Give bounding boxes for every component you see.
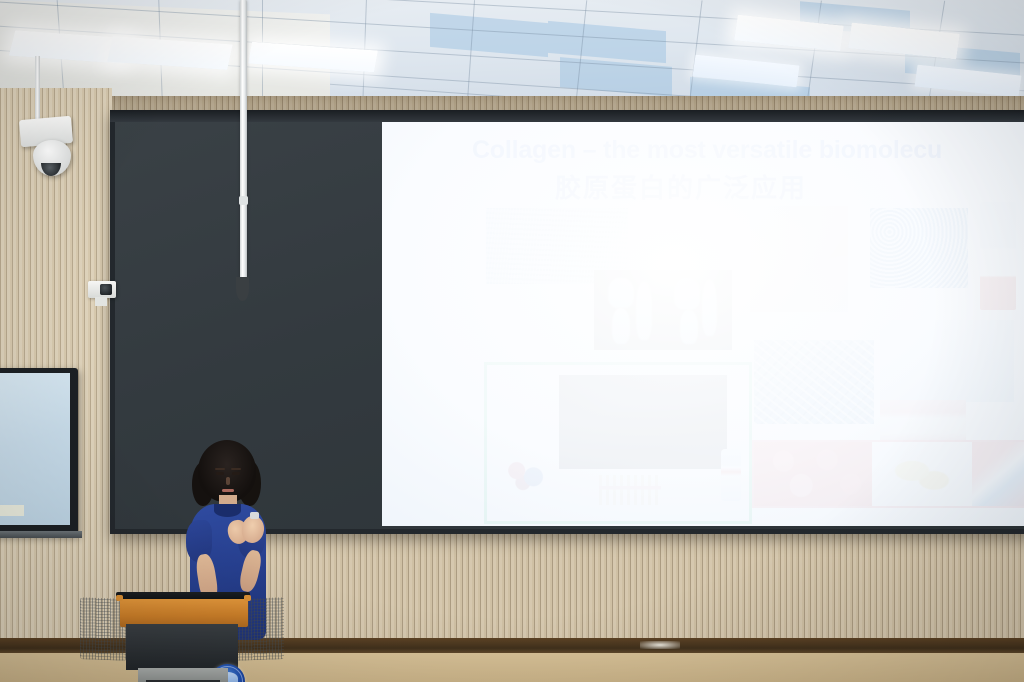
slide-title-chinese: 胶原蛋白的广泛应用: [382, 168, 980, 205]
dress-collar: [214, 504, 241, 517]
food-application-group-box: [752, 440, 1024, 508]
pole-hook-icon: [236, 277, 249, 301]
collagen-sponge-image: [754, 340, 874, 424]
side-flat-panel-display[interactable]: [0, 368, 78, 536]
lectern-wood-rail: [120, 599, 248, 627]
pole-joint: [239, 196, 248, 205]
cosmetic-model-image: [750, 206, 848, 312]
screen-pull-down-pole[interactable]: [240, 0, 247, 282]
lectern-knob-left[interactable]: [116, 595, 123, 601]
blackboard-top-rail: [110, 110, 1024, 122]
lectern-knob-right[interactable]: [244, 595, 251, 601]
presenter-hair: [198, 440, 256, 502]
eyebrow-right: [231, 468, 241, 470]
confectionery-image: [972, 442, 1024, 506]
side-display-shelf: [0, 531, 82, 538]
lecture-hall-scene: Collagen – the most versatile biomolecu …: [0, 0, 1024, 682]
eye-left: [216, 472, 224, 475]
medicine-vial-image: [980, 202, 1016, 310]
nose: [226, 477, 230, 485]
slide-title-english: Collagen – the most versatile biomolecu: [382, 136, 1024, 165]
match-sticks-image: [599, 475, 661, 505]
leather-and-adhesive-group-box: [484, 362, 752, 524]
ceiling-tile: [430, 13, 548, 57]
medical-device-box-image: [880, 320, 1014, 402]
adhesive-tape-rolls-image: [495, 449, 557, 497]
side-display-screen: [0, 373, 70, 525]
red-jelly-candy-image: [754, 442, 872, 506]
presentation-clicker[interactable]: [250, 512, 259, 519]
floor-highlight: [640, 641, 680, 649]
lectern-front-panel: [126, 624, 238, 670]
softgel-capsules-image: [872, 442, 972, 506]
dental-application-image: [880, 400, 966, 444]
side-display-label: [0, 505, 24, 516]
eye-right: [232, 472, 240, 475]
lectern[interactable]: [80, 592, 284, 682]
collagen-granules-image: [870, 208, 968, 288]
knee-xray-image: [594, 270, 732, 350]
eyebrow-left: [215, 468, 225, 470]
bullet-camera-mount: [95, 297, 107, 306]
camera-mount-arm: [35, 56, 40, 122]
leather-goods-image: [559, 375, 727, 469]
mouth: [222, 489, 234, 492]
glue-bottle-image: [721, 449, 741, 501]
projected-slide: Collagen – the most versatile biomolecu …: [382, 122, 1024, 526]
bullet-camera-lens-icon: [100, 284, 112, 295]
